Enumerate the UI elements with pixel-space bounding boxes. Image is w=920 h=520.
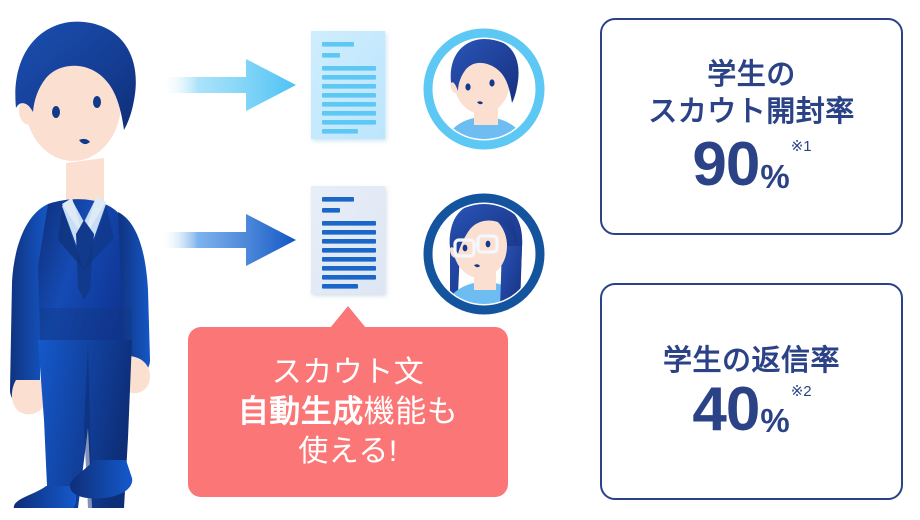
scout-document-light xyxy=(305,25,395,147)
stat-card-reply-rate-unit: % xyxy=(760,404,789,437)
student-avatar-female xyxy=(420,190,548,318)
callout-line-2-rest: 機能も xyxy=(364,394,459,429)
scout-document-dark xyxy=(305,180,395,302)
stat-card-open-rate-title-line-1: 学生の xyxy=(707,57,796,94)
callout-line-2: 自動生成機能も xyxy=(238,392,459,432)
stat-card-reply-rate-number: 40 xyxy=(692,380,759,441)
arrow-bottom xyxy=(160,210,298,270)
stat-card-reply-rate: 学生の返信率 40 % ※2 xyxy=(600,283,903,500)
student-avatar-male xyxy=(420,25,548,153)
stat-card-open-rate-unit: % xyxy=(760,160,789,193)
callout-emphasis: 自動生成 xyxy=(238,394,364,429)
stat-card-open-rate-number: 90 xyxy=(692,135,759,196)
callout-line-1: スカウト文 xyxy=(272,353,425,392)
arrow-top xyxy=(160,55,298,115)
stat-card-reply-rate-value-row: 40 % ※2 xyxy=(692,380,810,441)
businessman-illustration xyxy=(0,8,175,508)
infographic-canvas: スカウト文 自動生成機能も 使える! 学生の スカウト開封率 90 % ※1 学… xyxy=(0,0,920,520)
stat-card-open-rate: 学生の スカウト開封率 90 % ※1 xyxy=(600,18,903,235)
stat-card-open-rate-value-row: 90 % ※1 xyxy=(692,135,810,196)
callout-tail xyxy=(330,306,366,328)
stat-card-reply-rate-footnote: ※2 xyxy=(791,382,812,400)
stat-card-open-rate-title-line-2: スカウト開封率 xyxy=(648,94,855,131)
auto-generate-callout: スカウト文 自動生成機能も 使える! xyxy=(188,327,508,497)
callout-line-3: 使える! xyxy=(298,432,397,471)
stat-card-open-rate-footnote: ※1 xyxy=(791,137,812,155)
